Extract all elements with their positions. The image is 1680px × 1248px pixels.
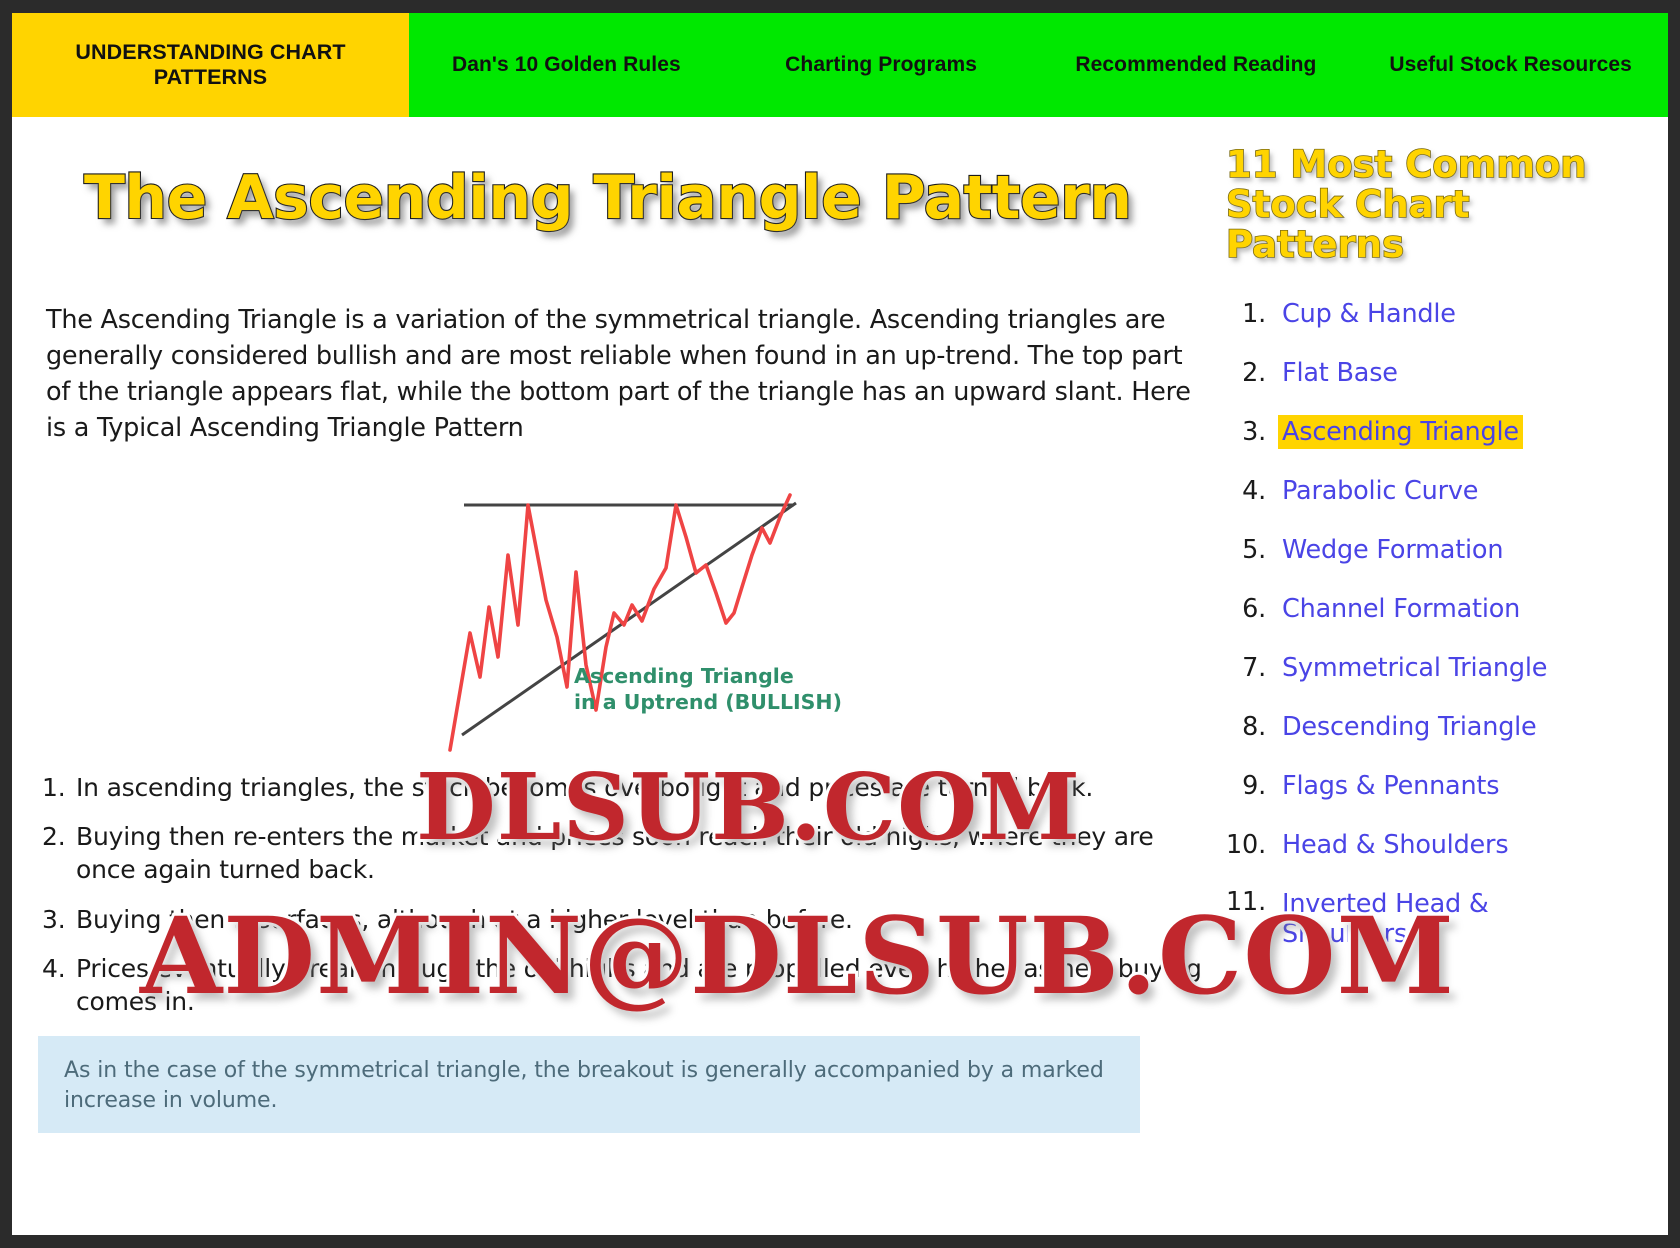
- sidebar-item-number: 11.: [1222, 887, 1278, 917]
- nav-item-label: Recommended Reading: [1075, 53, 1316, 77]
- chart-caption-line-1: Ascending Triangle: [574, 663, 842, 689]
- sidebar-item-number: 8.: [1222, 712, 1278, 742]
- list-item-text: Prices eventually break through the old …: [76, 954, 1202, 1016]
- ascending-triangle-chart: Ascending Triangle in a Uptrend (BULLISH…: [34, 465, 1194, 755]
- intro-paragraph: The Ascending Triangle is a variation of…: [46, 303, 1202, 447]
- sidebar-item-number: 7.: [1222, 653, 1278, 683]
- nav-item-recommended-reading[interactable]: Recommended Reading: [1039, 13, 1354, 117]
- nav-item-charting-programs[interactable]: Charting Programs: [724, 13, 1039, 117]
- sidebar-item-label[interactable]: Flags & Pennants: [1278, 769, 1503, 803]
- sidebar-item-label[interactable]: Inverted Head & Shoulders: [1278, 887, 1536, 952]
- nav-item-label: UNDERSTANDING CHART PATTERNS: [22, 40, 399, 89]
- sidebar-item-inverted-head-and-shoulders[interactable]: 11. Inverted Head & Shoulders: [1222, 887, 1652, 952]
- list-item-number: 2.: [42, 820, 65, 853]
- nav-item-understanding-chart-patterns[interactable]: UNDERSTANDING CHART PATTERNS: [12, 13, 409, 117]
- sidebar-item-number: 4.: [1222, 476, 1278, 506]
- sidebar: 11 Most Common Stock Chart Patterns 1. C…: [1222, 117, 1652, 977]
- main-column: The Ascending Triangle Pattern The Ascen…: [34, 117, 1214, 1133]
- volume-callout-box: As in the case of the symmetrical triang…: [38, 1036, 1140, 1133]
- sidebar-item-number: 1.: [1222, 299, 1278, 329]
- sidebar-item-label[interactable]: Channel Formation: [1278, 592, 1524, 626]
- nav-item-label: Useful Stock Resources: [1389, 53, 1632, 77]
- sidebar-pattern-list: 1. Cup & Handle 2. Flat Base 3. Ascendin…: [1222, 297, 1652, 952]
- sidebar-heading: 11 Most Common Stock Chart Patterns: [1226, 145, 1626, 265]
- list-item-text: Buying then resurfaces, although at a hi…: [76, 905, 853, 934]
- sidebar-item-flags-and-pennants[interactable]: 9. Flags & Pennants: [1222, 769, 1652, 803]
- sidebar-item-number: 3.: [1222, 417, 1278, 447]
- sidebar-item-label[interactable]: Head & Shoulders: [1278, 828, 1512, 862]
- sidebar-item-cup-and-handle[interactable]: 1. Cup & Handle: [1222, 297, 1652, 331]
- sidebar-item-label[interactable]: Wedge Formation: [1278, 533, 1507, 567]
- list-item: 3. Buying then resurfaces, although at a…: [42, 903, 1214, 936]
- sidebar-item-number: 6.: [1222, 594, 1278, 624]
- sidebar-item-label[interactable]: Ascending Triangle: [1278, 415, 1523, 449]
- sidebar-item-number: 10.: [1222, 830, 1278, 860]
- list-item: 2. Buying then re-enters the market and …: [42, 820, 1214, 887]
- sidebar-item-label[interactable]: Cup & Handle: [1278, 297, 1460, 331]
- sidebar-item-parabolic-curve[interactable]: 4. Parabolic Curve: [1222, 474, 1652, 508]
- sidebar-item-ascending-triangle[interactable]: 3. Ascending Triangle: [1222, 415, 1652, 449]
- nav-item-label: Charting Programs: [785, 53, 977, 77]
- sidebar-item-symmetrical-triangle[interactable]: 7. Symmetrical Triangle: [1222, 651, 1652, 685]
- chart-caption: Ascending Triangle in a Uptrend (BULLISH…: [574, 663, 842, 715]
- sidebar-item-label[interactable]: Symmetrical Triangle: [1278, 651, 1551, 685]
- sidebar-item-label[interactable]: Parabolic Curve: [1278, 474, 1482, 508]
- sidebar-item-descending-triangle[interactable]: 8. Descending Triangle: [1222, 710, 1652, 744]
- pattern-notes-list: 1. In ascending triangles, the stock bec…: [42, 771, 1214, 1019]
- sidebar-item-wedge-formation[interactable]: 5. Wedge Formation: [1222, 533, 1652, 567]
- list-item-number: 4.: [42, 952, 65, 985]
- sidebar-item-label[interactable]: Descending Triangle: [1278, 710, 1541, 744]
- list-item: 1. In ascending triangles, the stock bec…: [42, 771, 1214, 804]
- page-frame: UNDERSTANDING CHART PATTERNS Dan's 10 Go…: [12, 13, 1668, 1235]
- list-item: 4. Prices eventually break through the o…: [42, 952, 1214, 1019]
- sidebar-item-number: 9.: [1222, 771, 1278, 801]
- nav-item-label: Dan's 10 Golden Rules: [452, 53, 681, 77]
- list-item-number: 1.: [42, 771, 65, 804]
- sidebar-item-flat-base[interactable]: 2. Flat Base: [1222, 356, 1652, 390]
- list-item-text: In ascending triangles, the stock become…: [76, 773, 1093, 802]
- sidebar-item-channel-formation[interactable]: 6. Channel Formation: [1222, 592, 1652, 626]
- sidebar-item-label[interactable]: Flat Base: [1278, 356, 1402, 390]
- content-area: The Ascending Triangle Pattern The Ascen…: [12, 117, 1668, 1235]
- nav-item-dans-10-golden-rules[interactable]: Dan's 10 Golden Rules: [409, 13, 724, 117]
- list-item-number: 3.: [42, 903, 65, 936]
- main-navigation: UNDERSTANDING CHART PATTERNS Dan's 10 Go…: [12, 13, 1668, 117]
- sidebar-item-head-and-shoulders[interactable]: 10. Head & Shoulders: [1222, 828, 1652, 862]
- page-title: The Ascending Triangle Pattern: [84, 163, 1214, 233]
- chart-caption-line-2: in a Uptrend (BULLISH): [574, 689, 842, 715]
- sidebar-item-number: 5.: [1222, 535, 1278, 565]
- nav-item-useful-stock-resources[interactable]: Useful Stock Resources: [1353, 13, 1668, 117]
- list-item-text: Buying then re-enters the market and pri…: [76, 822, 1154, 884]
- sidebar-item-number: 2.: [1222, 358, 1278, 388]
